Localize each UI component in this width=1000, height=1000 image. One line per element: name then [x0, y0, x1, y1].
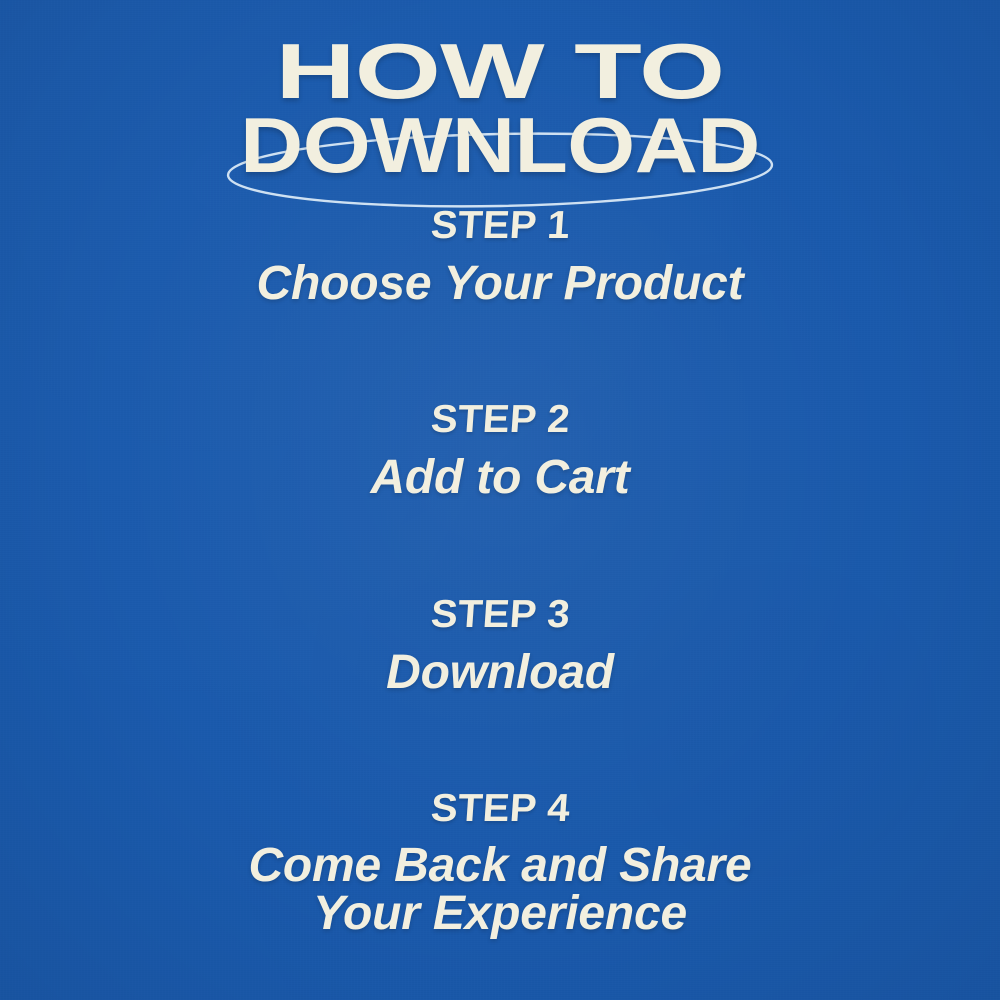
step-2-label: STEP 2: [429, 400, 571, 439]
title-words: HOW TO DOWNLOAD: [268, 36, 732, 182]
step-4-label: STEP 4: [429, 789, 571, 828]
step-item-3: STEP 3 Download: [0, 595, 1000, 697]
step-item-2: STEP 2 Add to Cart: [0, 400, 1000, 502]
title-block: HOW TO DOWNLOAD: [0, 36, 1000, 182]
step-3-label: STEP 3: [429, 595, 571, 634]
step-4-description: Come Back and Share Your Experience: [0, 842, 1000, 938]
step-2-label-row: STEP 2: [0, 400, 1000, 439]
step-4-description-line-2: Your Experience: [0, 890, 1000, 938]
steps-list: STEP 1 Choose Your Product STEP 2 Add to…: [0, 206, 1000, 938]
title-line-1: HOW TO: [171, 36, 830, 108]
step-1-label: STEP 1: [429, 206, 571, 245]
step-3-label-row: STEP 3: [0, 595, 1000, 634]
step-4-description-line-1: Come Back and Share: [0, 842, 1000, 890]
title-line-2: DOWNLOAD: [240, 110, 760, 182]
step-3-description: Download: [0, 648, 1000, 697]
step-1-description: Choose Your Product: [0, 259, 1000, 308]
step-2-description: Add to Cart: [0, 453, 1000, 502]
step-1-label-row: STEP 1: [0, 206, 1000, 245]
title-stack: HOW TO DOWNLOAD: [268, 36, 732, 182]
step-4-label-row: STEP 4: [0, 789, 1000, 828]
poster-canvas: HOW TO DOWNLOAD STEP 1 Choose Your Produ…: [0, 0, 1000, 1000]
step-item-4: STEP 4 Come Back and Share Your Experien…: [0, 789, 1000, 938]
step-item-1: STEP 1 Choose Your Product: [0, 206, 1000, 308]
